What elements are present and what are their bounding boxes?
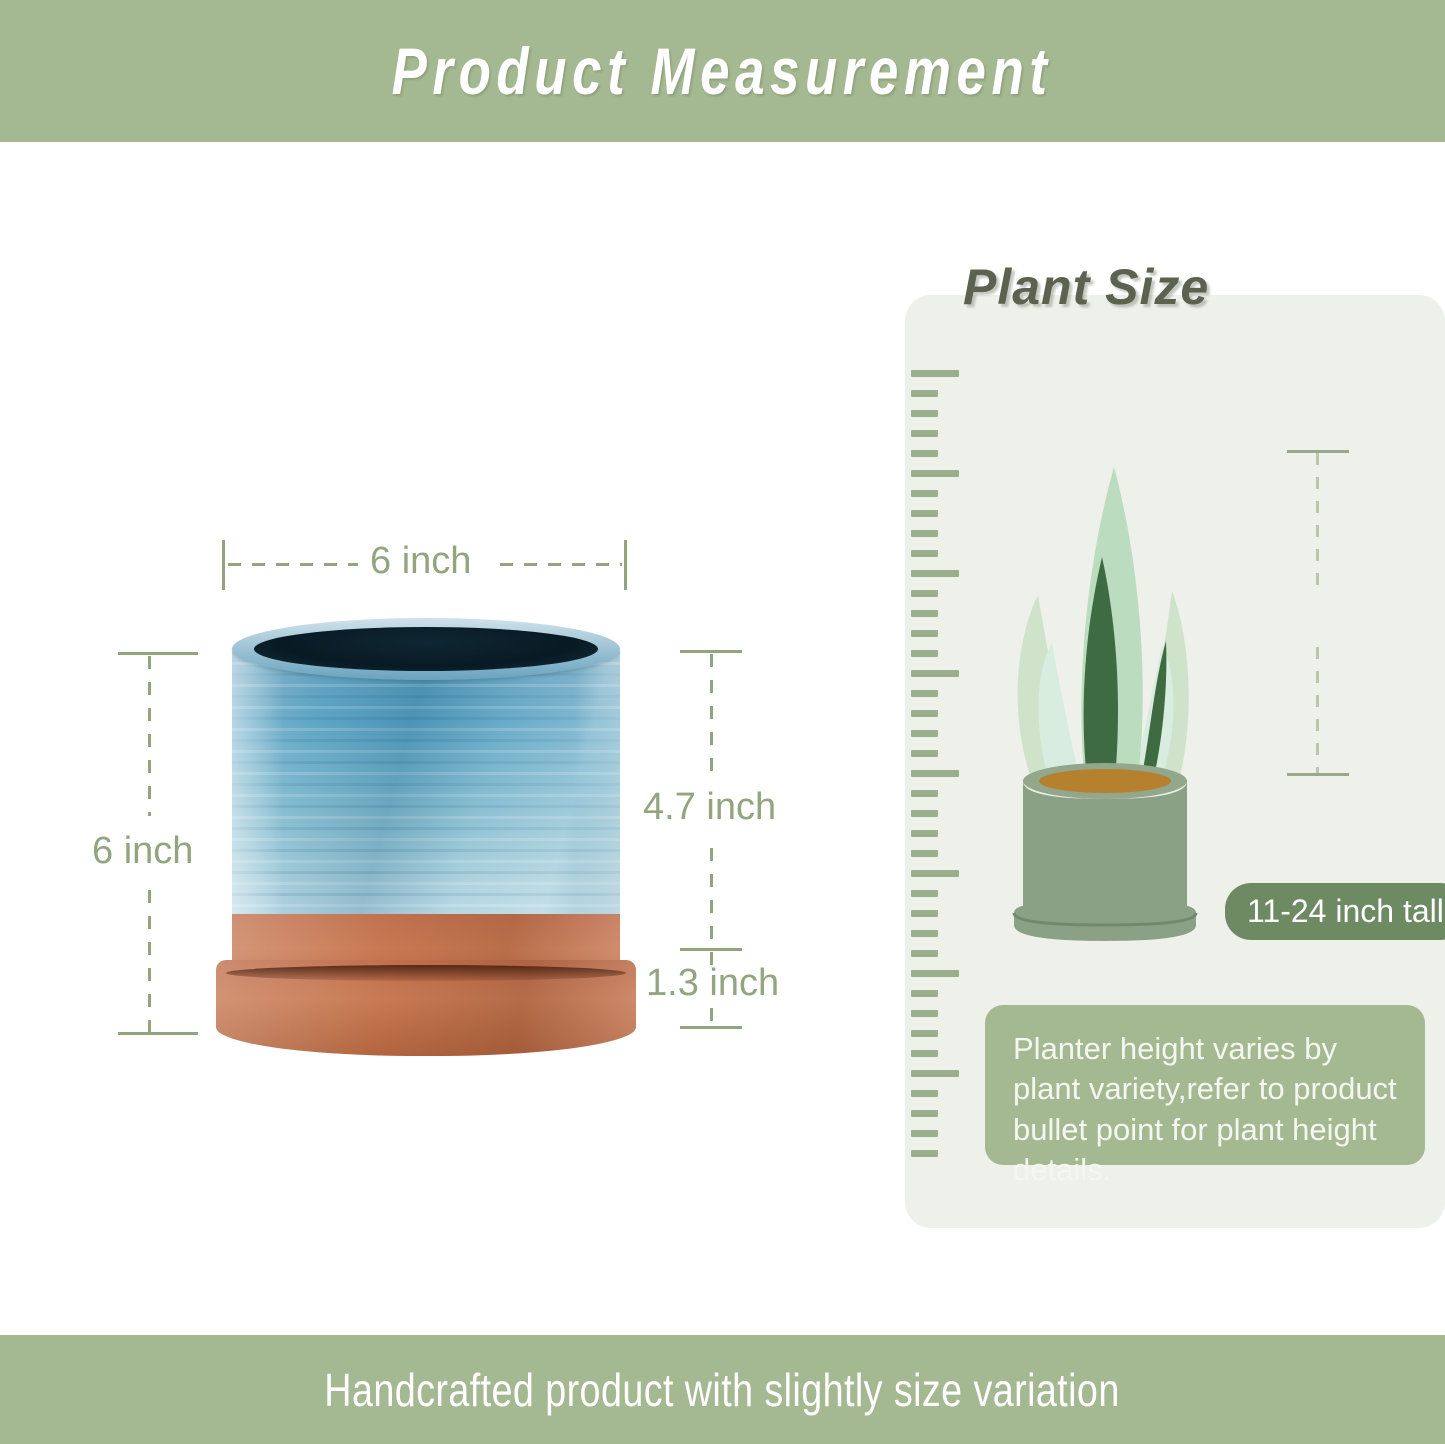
body-dim-line-bottom [710,848,713,944]
ruler [905,370,975,1170]
ruler-tick [911,770,959,777]
pot-right-highlight [574,640,620,940]
height-dim-line-top [148,656,151,816]
ruler-tick [911,830,938,837]
ruler-tick [911,570,959,577]
body-dim-line-top [710,654,713,774]
ruler-tick [911,890,938,897]
pot-left-highlight [232,640,284,940]
saucer-lip-shadow [226,965,626,981]
ruler-tick [911,550,938,557]
ruler-tick [911,750,938,757]
width-dim-line-left [228,563,358,566]
ruler-tick [911,810,938,817]
plant-pot-soil-top [1039,769,1171,793]
ruler-tick [911,690,938,697]
width-dim-cap-right [624,540,627,590]
header-band: Product Measurement [0,0,1445,142]
body-dim-cap-top [680,650,742,653]
ruler-tick [911,510,938,517]
ruler-tick [911,630,938,637]
pot-sheen [232,640,620,940]
ruler-tick [911,370,959,377]
ruler-tick [911,670,959,677]
plant-height-note: Planter height varies by plant variety,r… [985,1005,1425,1165]
body-dim-cap-bottom [680,948,742,951]
saucer-dim-line-bottom [710,1008,713,1024]
infographic-stage: Product Measurement 6 inch 6 inch 4.7 in… [0,0,1445,1444]
plant-size-panel: 11-24 inch tall Planter height varies by… [905,295,1445,1228]
ruler-tick [911,870,959,877]
ruler-tick [911,1110,938,1117]
ruler-tick [911,1030,938,1037]
ruler-tick [911,1050,938,1057]
ruler-tick [911,410,938,417]
product-photo-planter [216,618,636,1058]
height-dim-line-bottom [148,890,151,1032]
ruler-tick [911,1090,938,1097]
height-dim-cap-bottom [118,1032,198,1035]
plant-height-cap-bottom [1287,773,1349,776]
ruler-tick [911,1070,959,1077]
ruler-tick [911,790,938,797]
pot-interior [254,627,598,671]
plant-height-cap-top [1287,450,1349,453]
ruler-tick [911,390,938,397]
footer-note: Handcrafted product with slightly size v… [325,1363,1120,1417]
ruler-tick [911,470,959,477]
ruler-tick [911,490,938,497]
ruler-tick [911,650,938,657]
saucer-dim-cap-bottom [680,1026,742,1029]
plant-size-title: Plant Size [963,258,1209,316]
snake-plant-illustration [990,445,1220,945]
page-title: Product Measurement [392,33,1053,109]
ruler-tick [911,590,938,597]
height-dim-label: 6 inch [92,830,193,873]
plant-height-line-top [1316,453,1319,585]
width-dim-cap-left [222,540,225,590]
saucer-dim-label: 1.3 inch [646,962,779,1005]
height-dim-cap-top [118,652,198,655]
width-dim-line-right [500,563,622,566]
ruler-tick [911,430,938,437]
ruler-tick [911,450,938,457]
ruler-tick [911,910,938,917]
ruler-tick [911,950,938,957]
footer-band: Handcrafted product with slightly size v… [0,1335,1445,1444]
ruler-tick [911,850,938,857]
ruler-tick [911,710,938,717]
ruler-tick [911,530,938,537]
plant-height-badge: 11-24 inch tall [1225,883,1445,940]
ruler-tick [911,1010,938,1017]
ruler-tick [911,990,938,997]
pot-body [232,640,620,940]
plant-height-line-bottom [1316,647,1319,773]
ruler-tick [911,1150,938,1157]
ruler-tick [911,1130,938,1137]
body-dim-label: 4.7 inch [643,786,776,829]
ruler-tick [911,930,938,937]
ruler-tick [911,610,938,617]
plant-pot-saucer [1014,901,1196,941]
width-dim-label: 6 inch [370,540,471,583]
ruler-tick [911,730,938,737]
ruler-tick [911,970,959,977]
